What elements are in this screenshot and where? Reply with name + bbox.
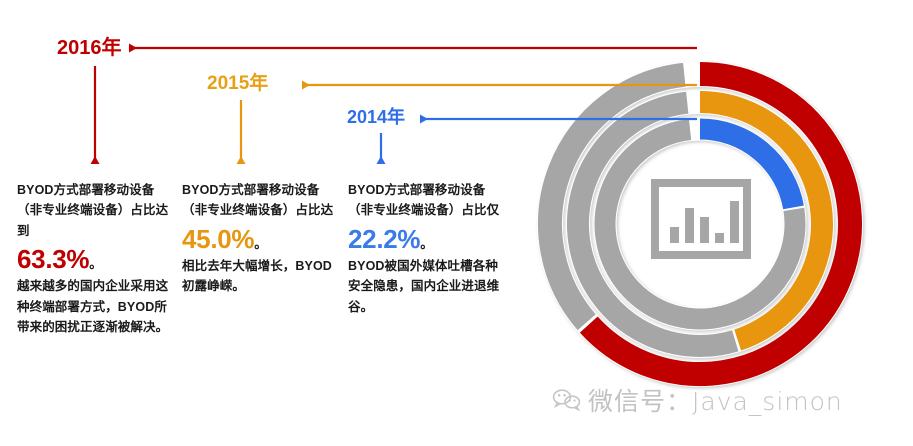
column-2016-value: 63.3% (17, 244, 89, 274)
bar-chart-icon-bars (670, 201, 739, 243)
column-2014-lead: BYOD方式部署移动设备（非专业终端设备）占比仅 (348, 180, 508, 221)
column-2015-value-suffix: 。 (254, 236, 267, 251)
year-label-2016: 2016年 (57, 38, 122, 58)
column-2016-note: 越来越多的国内企业采用这种终端部署方式，BYOD所带来的困扰正逐渐被解决。 (17, 276, 177, 337)
bar-chart-icon (655, 183, 747, 255)
column-2016-value-suffix: 。 (89, 256, 102, 271)
year-label-2015: 2015年 (207, 74, 268, 93)
column-2015: BYOD方式部署移动设备（非专业终端设备）占比达 45.0%。 相比去年大幅增长… (182, 180, 334, 297)
column-2015-lead: BYOD方式部署移动设备（非专业终端设备）占比达 (182, 180, 334, 221)
column-2014-value-suffix: 。 (420, 236, 433, 251)
column-2016-value-row: 63.3%。 (17, 243, 177, 276)
column-2016: BYOD方式部署移动设备（非专业终端设备）占比达到 63.3%。 越来越多的国内… (17, 180, 177, 337)
column-2014-value-row: 22.2%。 (348, 223, 508, 256)
column-2015-value-row: 45.0%。 (182, 223, 334, 256)
column-2015-note: 相比去年大幅增长，BYOD初露峥嵘。 (182, 256, 334, 297)
column-2016-lead: BYOD方式部署移动设备（非专业终端设备）占比达到 (17, 180, 177, 241)
column-2014-value: 22.2% (348, 224, 420, 254)
year-label-2014: 2014年 (347, 108, 405, 126)
column-2014: BYOD方式部署移动设备（非专业终端设备）占比仅 22.2%。 BYOD被国外媒… (348, 180, 508, 317)
column-2015-value: 45.0% (182, 224, 254, 254)
ring-inner-2014 (605, 129, 795, 319)
infographic-canvas: 2016年 2015年 2014年 BYOD方式部署移动设备（非专业终端设备）占… (0, 0, 913, 446)
column-2014-note: BYOD被国外媒体吐槽各种安全隐患，国内企业进退维谷。 (348, 256, 508, 317)
